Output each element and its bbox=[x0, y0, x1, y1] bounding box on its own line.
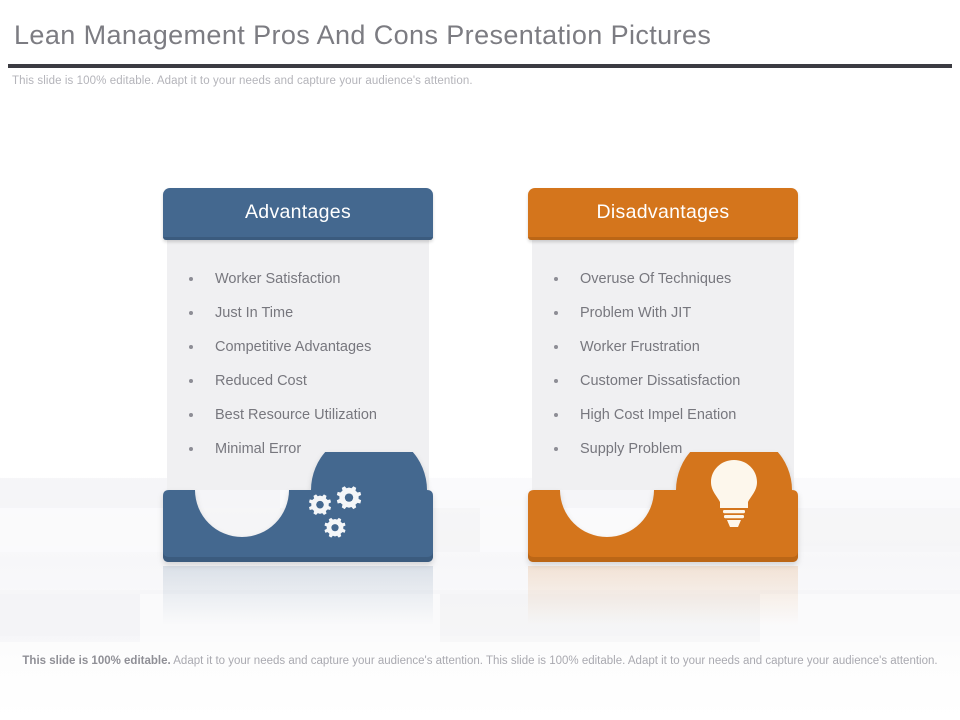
bullet-icon bbox=[554, 345, 558, 349]
bullet-icon bbox=[554, 447, 558, 451]
list-item[interactable]: High Cost Impel Enation bbox=[532, 398, 794, 432]
title-divider bbox=[8, 64, 952, 68]
bullet-icon bbox=[189, 277, 193, 281]
disadvantages-header-label: Disadvantages bbox=[597, 201, 730, 224]
slide-subtitle: This slide is 100% editable. Adapt it to… bbox=[12, 75, 473, 87]
footer-rest: Adapt it to your needs and capture your … bbox=[171, 655, 938, 667]
list-item[interactable]: Customer Dissatisfaction bbox=[532, 364, 794, 398]
bullet-icon bbox=[189, 311, 193, 315]
list-item-label: Worker Satisfaction bbox=[215, 271, 340, 287]
bullet-icon bbox=[189, 345, 193, 349]
bullet-icon bbox=[189, 413, 193, 417]
list-item[interactable]: Problem With JIT bbox=[532, 296, 794, 330]
list-item-label: Problem With JIT bbox=[580, 305, 691, 321]
disadvantages-list: Overuse Of Techniques Problem With JIT W… bbox=[532, 262, 794, 466]
list-item[interactable]: Overuse Of Techniques bbox=[532, 262, 794, 296]
list-item[interactable]: Worker Satisfaction bbox=[167, 262, 429, 296]
list-item[interactable]: Reduced Cost bbox=[167, 364, 429, 398]
advantages-header[interactable]: Advantages bbox=[163, 188, 433, 240]
list-item-label: Customer Dissatisfaction bbox=[580, 373, 740, 389]
perspective-floor bbox=[0, 478, 960, 660]
bullet-icon bbox=[189, 447, 193, 451]
list-item[interactable]: Best Resource Utilization bbox=[167, 398, 429, 432]
list-item-label: Competitive Advantages bbox=[215, 339, 371, 355]
list-item[interactable]: Competitive Advantages bbox=[167, 330, 429, 364]
list-item[interactable]: Worker Frustration bbox=[532, 330, 794, 364]
list-item-label: Just In Time bbox=[215, 305, 293, 321]
list-item-label: High Cost Impel Enation bbox=[580, 407, 736, 423]
list-item-label: Overuse Of Techniques bbox=[580, 271, 731, 287]
disadvantages-header[interactable]: Disadvantages bbox=[528, 188, 798, 240]
list-item[interactable]: Just In Time bbox=[167, 296, 429, 330]
advantages-header-label: Advantages bbox=[245, 201, 351, 224]
page-title: Lean Management Pros And Cons Presentati… bbox=[14, 20, 711, 51]
disadvantages-column: Disadvantages Overuse Of Techniques Prob… bbox=[528, 188, 798, 490]
footer-lead: This slide is 100% editable. bbox=[22, 655, 170, 667]
bullet-icon bbox=[554, 277, 558, 281]
advantages-list: Worker Satisfaction Just In Time Competi… bbox=[167, 262, 429, 466]
advantages-base-shape bbox=[163, 452, 433, 572]
list-item-label: Worker Frustration bbox=[580, 339, 700, 355]
bullet-icon bbox=[554, 413, 558, 417]
advantages-column: Advantages Worker Satisfaction Just In T… bbox=[163, 188, 433, 490]
list-item-label: Reduced Cost bbox=[215, 373, 307, 389]
bullet-icon bbox=[554, 379, 558, 383]
footer-note: This slide is 100% editable. Adapt it to… bbox=[0, 652, 960, 671]
disadvantages-base-shape bbox=[528, 452, 798, 572]
bullet-icon bbox=[554, 311, 558, 315]
bullet-icon bbox=[189, 379, 193, 383]
list-item-label: Best Resource Utilization bbox=[215, 407, 377, 423]
